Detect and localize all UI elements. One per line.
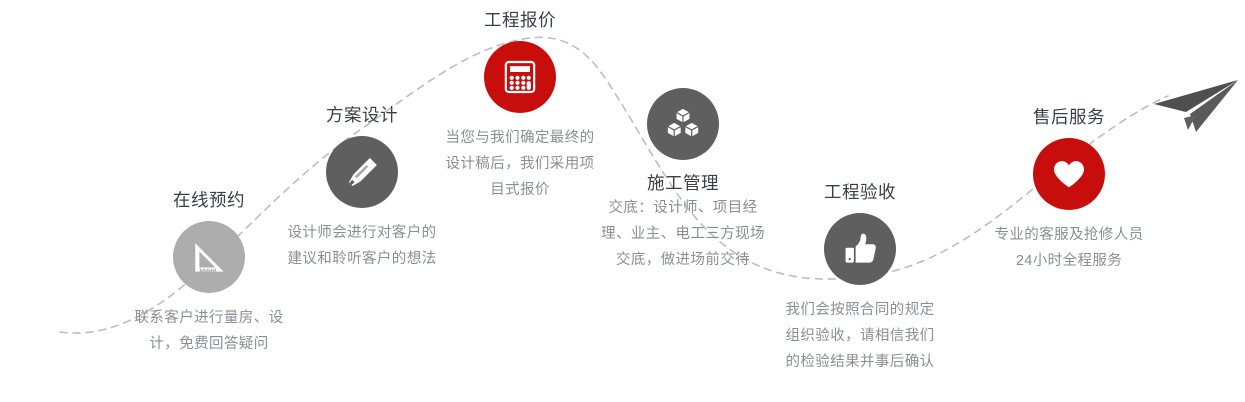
- triangle-ruler-icon: [173, 221, 245, 293]
- fountain-pen-nib-icon: [326, 136, 398, 208]
- step-6-after-sales-service[interactable]: 售后服务 专业的客服及抢修人员24小时全程服务: [983, 107, 1155, 274]
- step-1-online-booking[interactable]: 在线预约 联系客户进行量房、设计，免费回答疑问: [123, 190, 295, 357]
- step-6-description: 专业的客服及抢修人员24小时全程服务: [983, 222, 1155, 274]
- step-5-project-acceptance[interactable]: 工程验收 我们会按照合同的规定组织验收，请相信我们的检验结果并事后确认: [774, 182, 946, 375]
- step-3-project-quotation[interactable]: 工程报价 当您与我们确定最终的: [434, 10, 606, 203]
- thumbs-up-icon: [824, 213, 896, 285]
- step-4-construction-management[interactable]: 施工管理 交底：设计师、项目经理、业主、电工三方现场交底，做进场前交待: [597, 88, 769, 273]
- step-3-description: 当您与我们确定最终的设计稿后，我们采用项目式报价: [434, 125, 606, 203]
- step-5-title: 工程验收: [774, 182, 946, 202]
- process-flow-diagram: 在线预约 联系客户进行量房、设计，免费回答疑问: [0, 0, 1245, 402]
- step-2-scheme-design[interactable]: 方案设计 设计师会进行对客户的建议和聆听客户的想法: [276, 105, 448, 272]
- calculator-icon: [484, 41, 556, 113]
- stacked-blocks-icon: [647, 88, 719, 160]
- step-4-title: 施工管理: [597, 173, 769, 193]
- step-6-title: 售后服务: [983, 107, 1155, 127]
- step-2-description: 设计师会进行对客户的建议和聆听客户的想法: [276, 220, 448, 272]
- paper-plane-icon: [1146, 78, 1242, 140]
- step-5-description: 我们会按照合同的规定组织验收，请相信我们的检验结果并事后确认: [774, 297, 946, 375]
- step-1-title: 在线预约: [123, 190, 295, 210]
- heart-icon: [1033, 138, 1105, 210]
- step-3-title: 工程报价: [434, 10, 606, 30]
- step-4-description: 交底：设计师、项目经理、业主、电工三方现场交底，做进场前交待: [597, 195, 769, 273]
- step-1-description: 联系客户进行量房、设计，免费回答疑问: [123, 305, 295, 357]
- step-2-title: 方案设计: [276, 105, 448, 125]
